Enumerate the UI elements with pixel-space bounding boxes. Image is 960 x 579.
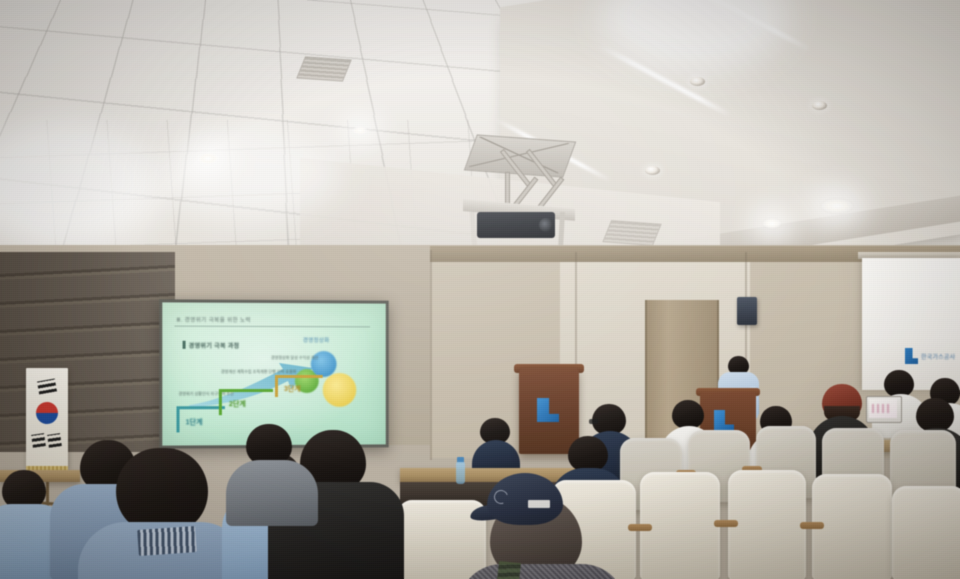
ceiling-vent-2: [602, 220, 661, 246]
slide-bracket-1-number: 1단계: [186, 417, 203, 427]
chair[interactable]: [892, 486, 960, 579]
chair[interactable]: [812, 474, 892, 579]
ceiling-glare-3: [160, 130, 340, 220]
banner-logo-text: 한국가스공사: [921, 352, 955, 361]
slide-bracket-2-number: 2단계: [229, 399, 246, 409]
projector-lens: [539, 218, 553, 232]
slide-bracket-3-number: 3단계: [284, 384, 301, 394]
head: [672, 400, 704, 429]
lectern-emblem: [714, 410, 734, 432]
downlight-4: [812, 101, 827, 110]
cap-label: [528, 500, 550, 508]
downlight-5: [645, 166, 660, 175]
chair-arm: [800, 522, 824, 529]
slide-heading: 경영위기 극복 과정: [189, 341, 240, 350]
glasses-icon: [589, 419, 598, 424]
downlight-1: [196, 152, 220, 165]
slide-bracket-2-caption: 경영개선 계획수립 조직개편 단행 인력 효율화: [221, 369, 296, 374]
downlight-7: [762, 218, 782, 229]
south-korean-flag: [22, 368, 72, 478]
wall-joint-3: [430, 250, 432, 460]
slide-bracket-3-caption: 경영정상화 달성 수익성 개선: [271, 355, 318, 360]
banner-logo-mark: [905, 348, 918, 364]
flag-trigram-bottom-left: [31, 433, 46, 448]
downlight-6: [820, 198, 854, 214]
head: [884, 370, 914, 397]
downlight-2: [352, 126, 368, 135]
chair[interactable]: [640, 472, 720, 579]
head: [916, 398, 954, 432]
ceiling-projector: [455, 138, 585, 248]
lanyard: [137, 526, 197, 556]
chair[interactable]: [728, 470, 806, 579]
seminar-room-photo: 한국가스공사 Ⅲ. 경영위기 극복을 위한 노력 경영위기 극복 과정: [0, 0, 960, 579]
head: [568, 436, 608, 472]
torso: [226, 460, 318, 526]
open-laptop[interactable]: [866, 396, 900, 424]
slide-title: Ⅲ. 경영위기 극복을 위한 노력: [176, 316, 250, 324]
slide-heading-bullet: [183, 341, 186, 349]
chair-arm: [628, 524, 652, 531]
slide-cog-label: 경영정상화: [303, 336, 330, 344]
laptop-screen-content: [872, 404, 892, 413]
wooden-lectern: [519, 368, 579, 454]
chair-arm: [714, 520, 738, 527]
water-bottle[interactable]: [456, 462, 465, 484]
flag-trigram-bottom-right: [47, 433, 62, 448]
slide-bracket-3: 3단계: [275, 375, 331, 401]
head: [116, 448, 208, 532]
ceiling-vent-1: [296, 56, 352, 81]
wall-speaker: [737, 297, 757, 325]
downlight-3: [690, 77, 705, 86]
wall-banner: [862, 258, 960, 390]
banner-logo: 한국가스공사: [905, 345, 960, 367]
wooden-lectern-emblem: [537, 398, 559, 422]
slide-bracket-2: 2단계: [219, 389, 279, 419]
